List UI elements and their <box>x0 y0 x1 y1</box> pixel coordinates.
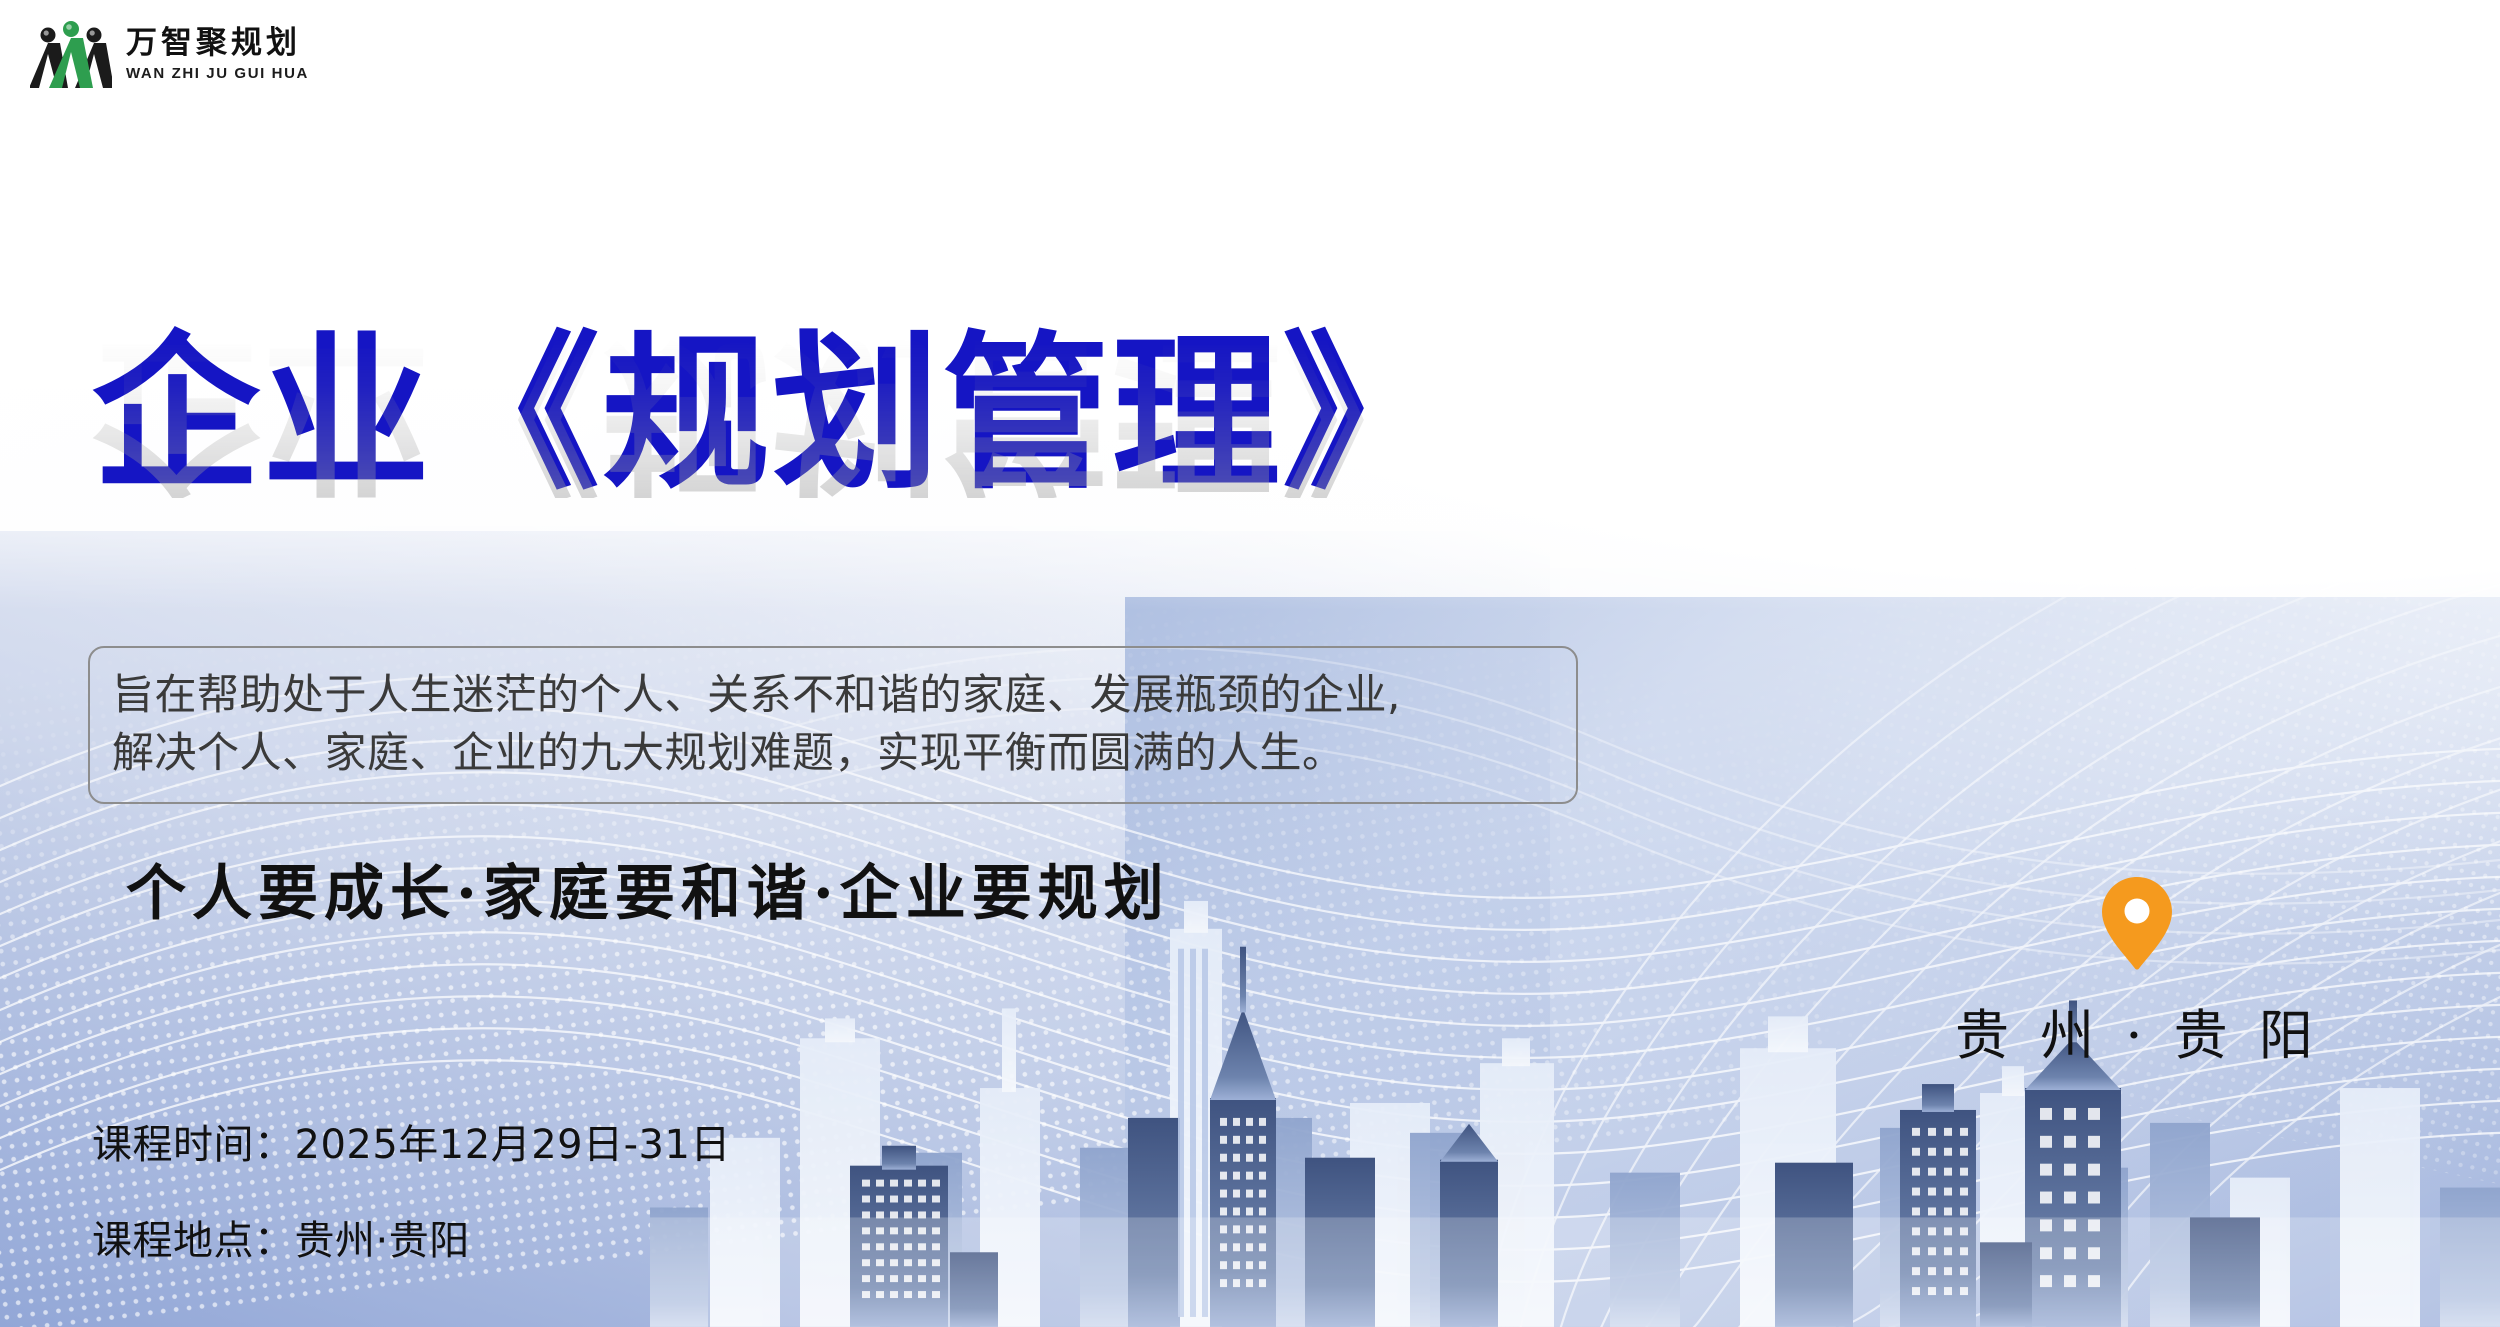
brand-name-cn: 万智聚规划 <box>126 28 309 59</box>
brand-logo[interactable]: 万智聚规划 WAN ZHI JU GUI HUA <box>30 18 309 90</box>
poster-canvas: 万智聚规划 WAN ZHI JU GUI HUA 企业《规划管理》 企业《规划管… <box>0 0 2500 1327</box>
brand-name-en: WAN ZHI JU GUI HUA <box>126 66 309 81</box>
hero-title-block: 企业《规划管理》 企业《规划管理》 <box>92 330 1452 666</box>
brand-logo-text: 万智聚规划 WAN ZHI JU GUI HUA <box>126 28 309 81</box>
location-label: 贵 州 · 贵 阳 <box>1955 991 2320 1070</box>
three-people-logo-icon <box>30 18 112 90</box>
course-info: 课程时间：2025年12月29日-31日 课程地点：贵州·贵阳 <box>92 1112 731 1266</box>
location-block: 贵 州 · 贵 阳 <box>1955 875 2320 1070</box>
description-box: 旨在帮助处于人生迷茫的个人、关系不和谐的家庭、发展瓶颈的企业, 解决个人、家庭、… <box>88 646 1578 804</box>
tagline: 个人要成长·家庭要和谐·企业要规划 <box>126 845 1170 932</box>
course-place: 课程地点：贵州·贵阳 <box>92 1208 731 1266</box>
description-line-1: 旨在帮助处于人生迷茫的个人、关系不和谐的家庭、发展瓶颈的企业, <box>112 666 1554 724</box>
page-title: 企业《规划管理》 <box>92 330 1452 498</box>
course-time: 课程时间：2025年12月29日-31日 <box>92 1112 731 1170</box>
description-line-2: 解决个人、家庭、企业的九大规划难题，实现平衡而圆满的人生。 <box>112 724 1554 782</box>
map-pin-icon <box>2098 875 2176 971</box>
